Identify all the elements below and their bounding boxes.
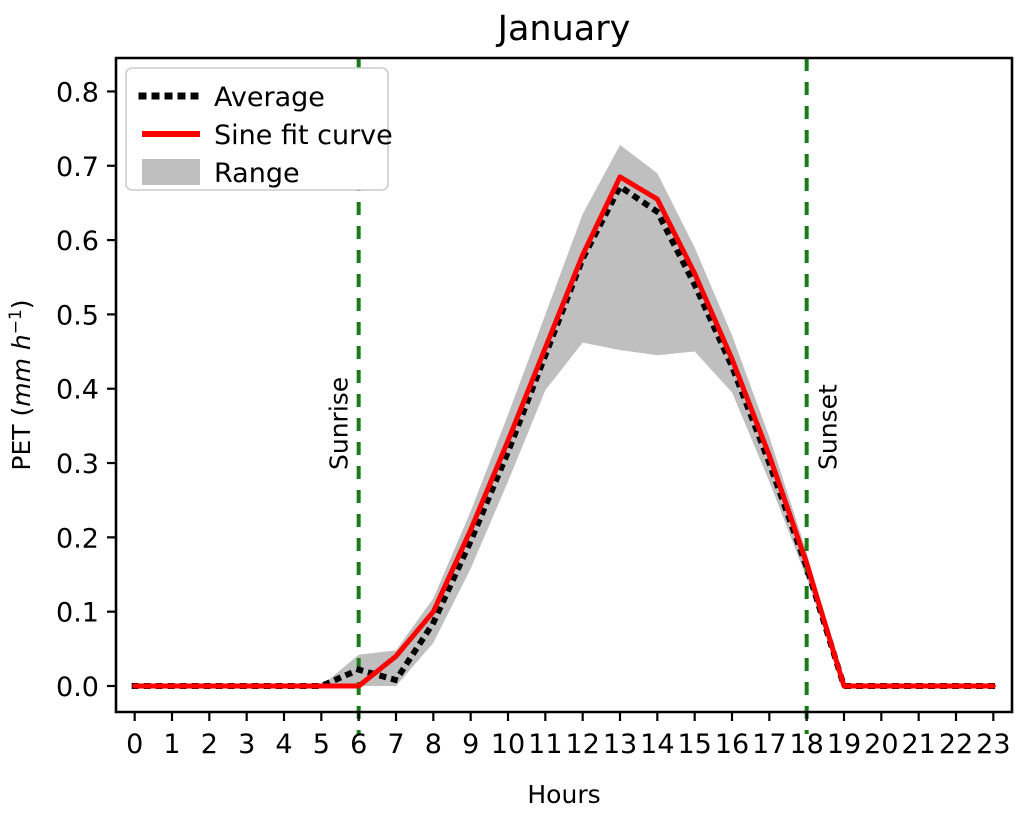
x-tick-label: 7 (387, 729, 404, 760)
x-tick-label: 8 (425, 729, 442, 760)
x-tick-label: 3 (238, 729, 255, 760)
x-tick-label: 15 (677, 729, 711, 760)
y-tick-label: 0.7 (56, 152, 99, 183)
x-tick-label: 9 (462, 729, 479, 760)
x-tick-label: 11 (528, 729, 562, 760)
legend-label-range: Range (214, 158, 300, 189)
y-tick-label: 0.3 (56, 449, 99, 480)
chart-svg: SunriseSunset0.00.10.20.30.40.50.60.70.8… (0, 0, 1033, 823)
x-tick-label: 4 (275, 729, 292, 760)
series-line-average (135, 187, 994, 686)
y-axis-title: PET (mm h−1) (6, 299, 36, 470)
y-tick-label: 0.6 (56, 226, 99, 257)
figure-canvas: SunriseSunset0.00.10.20.30.40.50.60.70.8… (0, 0, 1033, 823)
x-tick-label: 10 (491, 729, 525, 760)
legend-label-sine-fit-curve: Sine fit curve (214, 120, 393, 151)
x-tick-label: 5 (313, 729, 330, 760)
annotation-label-sunset: Sunset (814, 384, 843, 470)
x-tick-label: 20 (864, 729, 898, 760)
x-tick-label: 13 (603, 729, 637, 760)
x-axis-title: Hours (527, 780, 600, 809)
x-tick-label: 19 (827, 729, 861, 760)
y-tick-label: 0.2 (56, 523, 99, 554)
x-tick-label: 6 (350, 729, 367, 760)
legend-label-average: Average (214, 82, 325, 113)
x-tick-label: 1 (163, 729, 180, 760)
x-tick-label: 23 (976, 729, 1010, 760)
x-tick-label: 16 (715, 729, 749, 760)
x-tick-label: 2 (201, 729, 218, 760)
legend-marker-range (142, 159, 200, 185)
range-band-area (135, 145, 994, 686)
y-tick-label: 0.5 (56, 300, 99, 331)
x-tick-label: 14 (640, 729, 674, 760)
y-tick-label: 0.1 (56, 598, 99, 629)
chart-title: January (496, 9, 631, 49)
x-tick-label: 0 (126, 729, 143, 760)
y-tick-label: 0.4 (56, 375, 99, 406)
x-tick-label: 22 (939, 729, 973, 760)
y-tick-label: 0.0 (56, 672, 99, 703)
annotation-label-sunrise: Sunrise (325, 377, 354, 470)
x-tick-label: 12 (565, 729, 599, 760)
x-tick-label: 17 (752, 729, 786, 760)
series-line-sine-fit-curve (135, 177, 994, 686)
y-tick-label: 0.8 (56, 77, 99, 108)
x-tick-label: 21 (901, 729, 935, 760)
x-tick-label: 18 (789, 729, 823, 760)
